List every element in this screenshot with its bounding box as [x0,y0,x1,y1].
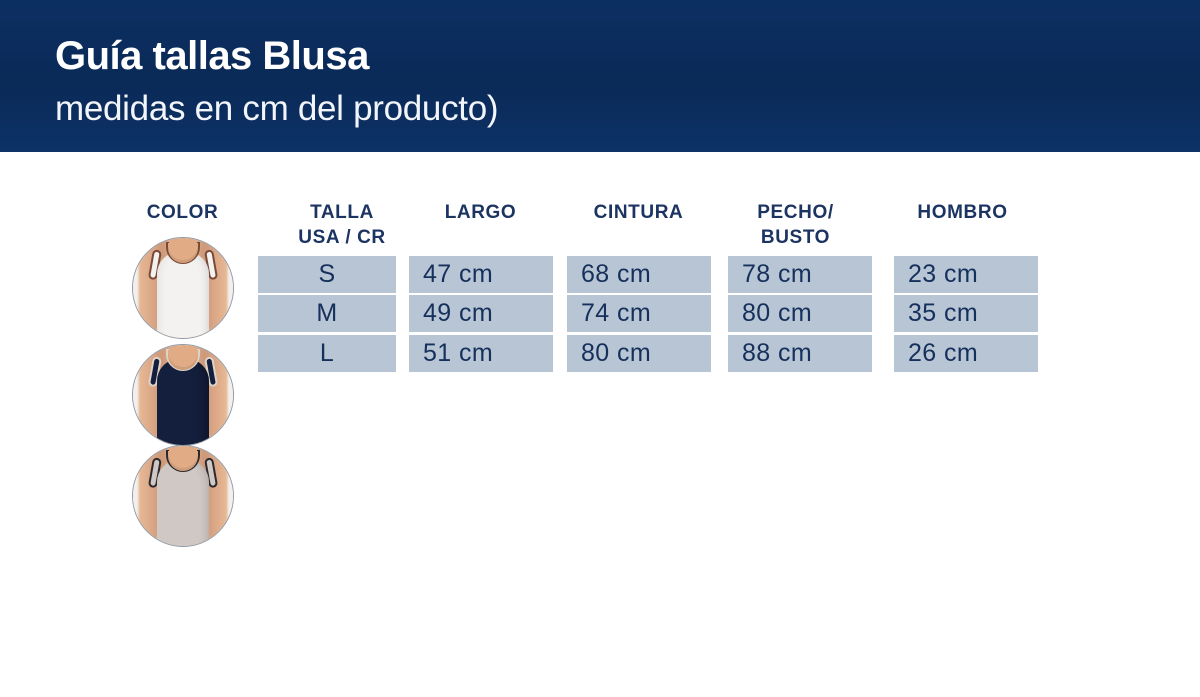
column-header-largo: LARGO [408,200,553,225]
tank-top-body [157,460,209,547]
color-swatch-navy-tank-top[interactable] [132,344,234,446]
neckline-trim [166,349,200,371]
table-cell-hombro: 26 cm [894,335,1038,372]
column-header-color: COLOR [120,200,245,225]
table-cell-cintura: 80 cm [567,335,711,372]
column-header-talla: TALLA USA / CR [258,200,426,250]
page-subtitle: medidas en cm del producto) [55,88,498,130]
neckline-trim [166,242,200,264]
table-cell-talla: M [258,295,396,332]
table-cell-cintura: 74 cm [567,295,711,332]
tank-top-body [157,359,209,446]
size-guide-table: COLOR TALLA USA / CR LARGO CINTURA PECHO… [0,152,1200,697]
table-cell-cintura: 68 cm [567,256,711,293]
header-banner: Guía tallas Blusa medidas en cm del prod… [0,0,1200,152]
table-cell-pecho-busto: 80 cm [728,295,872,332]
column-header-cintura: CINTURA [566,200,711,225]
table-cell-talla: S [258,256,396,293]
page-title: Guía tallas Blusa [55,33,369,79]
color-swatch-gray-tank-top[interactable] [132,445,234,547]
tank-top-body [157,252,209,339]
table-cell-hombro: 23 cm [894,256,1038,293]
table-cell-hombro: 35 cm [894,295,1038,332]
neckline-trim [166,450,200,472]
table-cell-pecho-busto: 88 cm [728,335,872,372]
table-cell-pecho-busto: 78 cm [728,256,872,293]
table-cell-largo: 51 cm [409,335,553,372]
color-swatch-white-tank-top[interactable] [132,237,234,339]
column-header-pecho-busto: PECHO/ BUSTO [723,200,868,250]
table-cell-largo: 47 cm [409,256,553,293]
table-cell-largo: 49 cm [409,295,553,332]
column-header-hombro: HOMBRO [890,200,1035,225]
table-cell-talla: L [258,335,396,372]
